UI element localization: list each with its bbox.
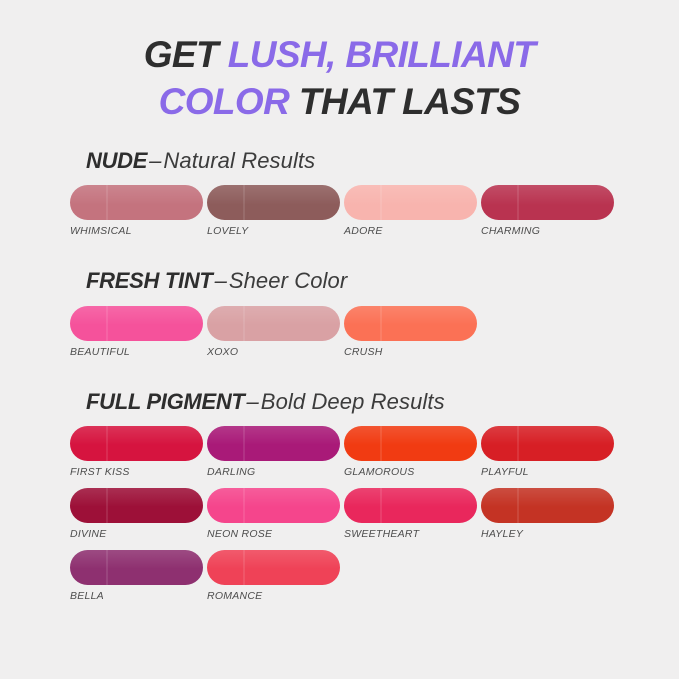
swatch-label: GLAMOROUS bbox=[344, 466, 481, 478]
headline-text-get: GET bbox=[144, 34, 228, 75]
swatch-cell[interactable]: NEON ROSE bbox=[207, 488, 344, 540]
swatch-label: BEAUTIFUL bbox=[70, 346, 207, 358]
color-swatch[interactable] bbox=[481, 426, 614, 461]
swatch-row-nude: WHIMSICAL LOVELY ADORE CHARMING bbox=[70, 185, 619, 247]
headline-line-1: GET LUSH, BRILLIANT bbox=[0, 32, 679, 79]
swatch-label: ADORE bbox=[344, 225, 481, 237]
section-subtitle-full-pigment: Bold Deep Results bbox=[261, 389, 445, 414]
swatch-label: SWEETHEART bbox=[344, 528, 481, 540]
color-swatch[interactable] bbox=[70, 185, 203, 220]
swatch-cell[interactable]: HAYLEY bbox=[481, 488, 618, 540]
swatch-cell[interactable]: BELLA bbox=[70, 550, 207, 602]
swatch-cell[interactable]: GLAMOROUS bbox=[344, 426, 481, 478]
swatch-cell[interactable]: CHARMING bbox=[481, 185, 618, 237]
swatch-row-full-pigment: FIRST KISS DARLING GLAMOROUS PLAYFUL DIV… bbox=[70, 426, 619, 612]
color-swatch[interactable] bbox=[344, 306, 477, 341]
headline-accent-lush-brilliant: LUSH, BRILLIANT bbox=[228, 34, 536, 75]
swatch-label: NEON ROSE bbox=[207, 528, 344, 540]
color-swatch[interactable] bbox=[344, 426, 477, 461]
color-swatch[interactable] bbox=[344, 488, 477, 523]
section-fresh-tint: FRESH TINT–Sheer Color BEAUTIFUL XOXO CR… bbox=[70, 269, 619, 367]
section-title-nude: NUDE bbox=[86, 148, 147, 173]
swatch-label: HAYLEY bbox=[481, 528, 618, 540]
swatch-cell[interactable]: FIRST KISS bbox=[70, 426, 207, 478]
section-title-fresh-tint: FRESH TINT bbox=[86, 268, 213, 293]
section-header-fresh-tint: FRESH TINT–Sheer Color bbox=[86, 269, 619, 293]
swatch-label: WHIMSICAL bbox=[70, 225, 207, 237]
color-swatch[interactable] bbox=[481, 488, 614, 523]
section-dash-full-pigment: – bbox=[245, 389, 261, 414]
swatch-label: PLAYFUL bbox=[481, 466, 618, 478]
swatch-label: BELLA bbox=[70, 590, 207, 602]
headline-text-that-lasts: THAT LASTS bbox=[289, 81, 520, 122]
section-dash-fresh-tint: – bbox=[213, 268, 229, 293]
shade-sections: NUDE–Natural Results WHIMSICAL LOVELY AD… bbox=[0, 149, 679, 612]
color-swatch[interactable] bbox=[207, 488, 340, 523]
page-headline: GET LUSH, BRILLIANT COLOR THAT LASTS bbox=[0, 0, 679, 125]
color-swatch[interactable] bbox=[344, 185, 477, 220]
section-full-pigment: FULL PIGMENT–Bold Deep Results FIRST KIS… bbox=[70, 390, 619, 612]
section-nude: NUDE–Natural Results WHIMSICAL LOVELY AD… bbox=[70, 149, 619, 247]
swatch-label: DIVINE bbox=[70, 528, 207, 540]
color-swatch[interactable] bbox=[481, 185, 614, 220]
color-swatch[interactable] bbox=[70, 488, 203, 523]
color-swatch[interactable] bbox=[207, 185, 340, 220]
swatch-label: LOVELY bbox=[207, 225, 344, 237]
swatch-cell[interactable]: WHIMSICAL bbox=[70, 185, 207, 237]
swatch-cell[interactable]: CRUSH bbox=[344, 306, 481, 358]
swatch-cell[interactable]: PLAYFUL bbox=[481, 426, 618, 478]
swatch-cell[interactable]: SWEETHEART bbox=[344, 488, 481, 540]
headline-accent-color: COLOR bbox=[159, 81, 290, 122]
color-swatch[interactable] bbox=[207, 306, 340, 341]
swatch-cell[interactable]: ADORE bbox=[344, 185, 481, 237]
swatch-label: DARLING bbox=[207, 466, 344, 478]
shade-chart-page: GET LUSH, BRILLIANT COLOR THAT LASTS NUD… bbox=[0, 0, 679, 679]
section-header-full-pigment: FULL PIGMENT–Bold Deep Results bbox=[86, 390, 619, 414]
color-swatch[interactable] bbox=[70, 426, 203, 461]
swatch-cell[interactable]: BEAUTIFUL bbox=[70, 306, 207, 358]
swatch-label: CRUSH bbox=[344, 346, 481, 358]
swatch-cell[interactable]: DARLING bbox=[207, 426, 344, 478]
color-swatch[interactable] bbox=[70, 550, 203, 585]
swatch-label: FIRST KISS bbox=[70, 466, 207, 478]
swatch-label: XOXO bbox=[207, 346, 344, 358]
section-subtitle-nude: Natural Results bbox=[163, 148, 315, 173]
color-swatch[interactable] bbox=[207, 426, 340, 461]
swatch-cell[interactable]: ROMANCE bbox=[207, 550, 344, 602]
section-subtitle-fresh-tint: Sheer Color bbox=[229, 268, 348, 293]
swatch-cell[interactable]: XOXO bbox=[207, 306, 344, 358]
color-swatch[interactable] bbox=[207, 550, 340, 585]
section-title-full-pigment: FULL PIGMENT bbox=[86, 389, 245, 414]
swatch-row-fresh-tint: BEAUTIFUL XOXO CRUSH bbox=[70, 306, 619, 368]
section-header-nude: NUDE–Natural Results bbox=[86, 149, 619, 173]
swatch-label: CHARMING bbox=[481, 225, 618, 237]
color-swatch[interactable] bbox=[70, 306, 203, 341]
headline-line-2: COLOR THAT LASTS bbox=[0, 79, 679, 126]
swatch-cell[interactable]: LOVELY bbox=[207, 185, 344, 237]
swatch-label: ROMANCE bbox=[207, 590, 344, 602]
swatch-cell[interactable]: DIVINE bbox=[70, 488, 207, 540]
section-dash-nude: – bbox=[147, 148, 163, 173]
